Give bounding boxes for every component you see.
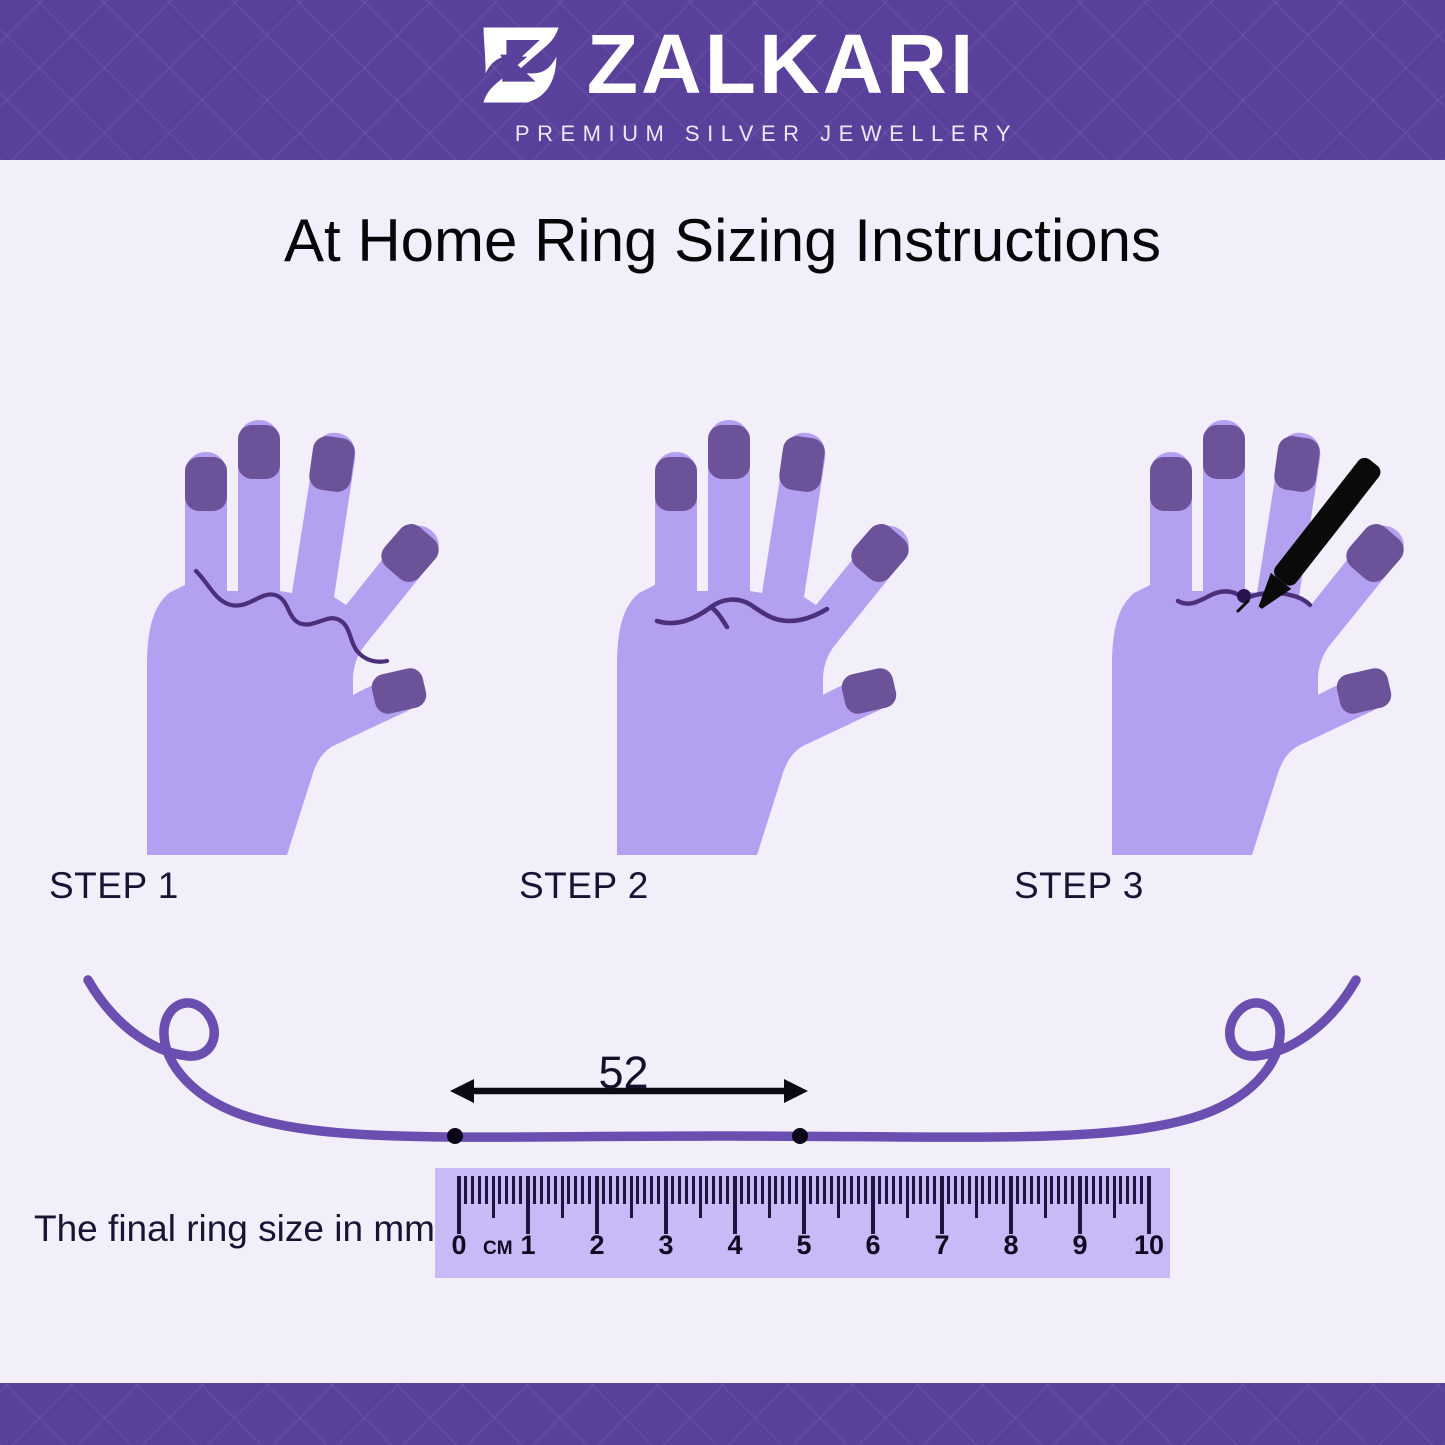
ruler-tick-minor: [926, 1176, 929, 1204]
ruler-tick-minor: [1030, 1176, 1033, 1204]
step-2: STEP 2: [505, 415, 935, 925]
ruler-tick-minor: [837, 1176, 840, 1218]
ruler-number-8: 8: [1003, 1230, 1018, 1261]
ruler-tick-minor: [1099, 1176, 1102, 1204]
ruler-tick-minor: [906, 1176, 909, 1218]
step-3: STEP 3: [1000, 415, 1430, 925]
ruler-tick-minor: [995, 1176, 998, 1204]
ruler-tick-minor: [1016, 1176, 1019, 1204]
ruler-tick-minor: [1092, 1176, 1095, 1204]
ruler-tick-minor: [512, 1176, 515, 1204]
ruler-tick-minor: [919, 1176, 922, 1204]
step-1: STEP 1: [35, 415, 465, 925]
ruler-tick-minor: [878, 1176, 881, 1204]
measure-end-marker: [792, 1128, 808, 1144]
ruler-tick-minor: [795, 1176, 798, 1204]
ruler-tick-minor: [774, 1176, 777, 1204]
ruler-tick-minor: [1140, 1176, 1143, 1204]
ruler-tick-minor: [1064, 1176, 1067, 1204]
ruler-tick-minor: [892, 1176, 895, 1204]
ruler-tick-minor: [492, 1176, 495, 1218]
steps-row: STEP 1 STEP 2: [0, 415, 1445, 925]
ruler-tick-minor: [685, 1176, 688, 1204]
ruler-tick-minor: [567, 1176, 570, 1204]
ruler-tick-minor: [533, 1176, 536, 1204]
ruler-tick-major: [940, 1176, 944, 1234]
ruler-tick-minor: [761, 1176, 764, 1204]
ruler-tick-minor: [609, 1176, 612, 1204]
ruler-tick-major: [457, 1176, 461, 1234]
ruler-tick-minor: [616, 1176, 619, 1204]
ruler-tick-minor: [857, 1176, 860, 1204]
ruler-tick-minor: [554, 1176, 557, 1204]
ruler-number-2: 2: [589, 1230, 604, 1261]
ruler-tick-minor: [636, 1176, 639, 1204]
ruler-tick-minor: [816, 1176, 819, 1204]
ruler-graphic: 012345678910 CM: [435, 1168, 1170, 1278]
hand-with-loose-thread-icon: [35, 415, 465, 855]
ruler-tick-major: [871, 1176, 875, 1234]
ruler-tick-minor: [975, 1176, 978, 1218]
ruler-tick-minor: [485, 1176, 488, 1204]
ruler-tick-minor: [912, 1176, 915, 1204]
ruler-tick-minor: [1113, 1176, 1116, 1218]
ruler-tick-minor: [1050, 1176, 1053, 1204]
ruler-tick-minor: [588, 1176, 591, 1204]
ruler-tick-minor: [650, 1176, 653, 1204]
ruler-tick-minor: [678, 1176, 681, 1204]
ruler-tick-minor: [988, 1176, 991, 1204]
ruler-tick-minor: [899, 1176, 902, 1204]
double-headed-arrow-icon: [450, 1079, 808, 1103]
ruler-tick-minor: [712, 1176, 715, 1204]
ruler-tick-minor: [747, 1176, 750, 1204]
ruler-tick-minor: [823, 1176, 826, 1204]
logo-main-row: ZALKARI: [469, 13, 977, 117]
ruler-tick-major: [1078, 1176, 1082, 1234]
thread-measure-section: [0, 960, 1445, 1160]
ruler-tick-minor: [705, 1176, 708, 1204]
ruler-tick-minor: [540, 1176, 543, 1204]
ruler-number-5: 5: [796, 1230, 811, 1261]
ruler-tick-minor: [581, 1176, 584, 1204]
ruler-tick-major: [802, 1176, 806, 1234]
ruler-tick-minor: [1023, 1176, 1026, 1204]
ruler-tick-minor: [478, 1176, 481, 1204]
ruler-tick-minor: [1002, 1176, 1005, 1204]
ruler-tick-major: [733, 1176, 737, 1234]
ruler-tick-minor: [1044, 1176, 1047, 1218]
ruler-tick-minor: [1119, 1176, 1122, 1204]
ruler-number-1: 1: [520, 1230, 535, 1261]
ruler-tick-minor: [1037, 1176, 1040, 1204]
ruler-tick-minor: [981, 1176, 984, 1204]
ruler-tick-minor: [464, 1176, 467, 1204]
ruler-tick-minor: [657, 1176, 660, 1204]
ruler-tick-major: [1147, 1176, 1151, 1234]
ruler-tick-minor: [843, 1176, 846, 1204]
ruler-tick-minor: [630, 1176, 633, 1218]
ruler-tick-minor: [692, 1176, 695, 1204]
ruler-tick-minor: [830, 1176, 833, 1204]
hand-with-thread-wrapped-icon: [505, 415, 935, 855]
ruler-tick-minor: [781, 1176, 784, 1204]
ruler-tick-minor: [1057, 1176, 1060, 1204]
ruler-tick-minor: [961, 1176, 964, 1204]
ruler-tick-minor: [788, 1176, 791, 1204]
ruler-tick-minor: [1085, 1176, 1088, 1204]
ruler-tick-minor: [561, 1176, 564, 1218]
ruler-tick-minor: [505, 1176, 508, 1204]
ruler-tick-minor: [933, 1176, 936, 1204]
ruler-tick-minor: [954, 1176, 957, 1204]
ruler-tick-major: [595, 1176, 599, 1234]
header-brand-bar: ZALKARI PREMIUM SILVER JEWELLERY: [0, 0, 1445, 160]
ruler-unit-label: CM: [483, 1238, 513, 1260]
step-1-label: STEP 1: [49, 865, 179, 907]
ruler-tick-minor: [547, 1176, 550, 1204]
ruler-number-0: 0: [451, 1230, 466, 1261]
ruler-tick-minor: [768, 1176, 771, 1218]
ruler-tick-minor: [602, 1176, 605, 1204]
ruler-tick-major: [526, 1176, 530, 1234]
ruler-tick-minor: [699, 1176, 702, 1218]
ruler-tick-minor: [754, 1176, 757, 1204]
page-title: At Home Ring Sizing Instructions: [0, 206, 1445, 275]
curled-thread-icon: [0, 960, 1445, 1160]
ruler-tick-minor: [671, 1176, 674, 1204]
ruler-tick-minor: [498, 1176, 501, 1204]
ruler-tick-minor: [643, 1176, 646, 1204]
measure-start-marker: [447, 1128, 463, 1144]
step-2-label: STEP 2: [519, 865, 649, 907]
ruler-tick-minor: [1133, 1176, 1136, 1204]
ruler-number-3: 3: [658, 1230, 673, 1261]
brand-tagline: PREMIUM SILVER JEWELLERY: [515, 121, 1018, 147]
ruler-tick-minor: [947, 1176, 950, 1204]
ruler-number-6: 6: [865, 1230, 880, 1261]
ruler-tick-minor: [740, 1176, 743, 1204]
brand-name: ZALKARI: [587, 26, 977, 103]
ruler-tick-minor: [809, 1176, 812, 1204]
footer-brand-bar: [0, 1383, 1445, 1445]
ruler-tick-minor: [471, 1176, 474, 1204]
ruler-tick-minor: [850, 1176, 853, 1204]
ruler-number-7: 7: [934, 1230, 949, 1261]
ruler-tick-minor: [968, 1176, 971, 1204]
ruler-tick-minor: [519, 1176, 522, 1204]
ruler-tick-minor: [574, 1176, 577, 1204]
ruler-number-9: 9: [1072, 1230, 1087, 1261]
z-monogram-icon: [469, 13, 573, 117]
ruler-tick-minor: [885, 1176, 888, 1204]
logo-lockup: ZALKARI PREMIUM SILVER JEWELLERY: [0, 0, 1445, 160]
ruler-tick-minor: [726, 1176, 729, 1204]
ruler-caption: The final ring size in mm: [34, 1208, 435, 1250]
ruler-tick-minor: [1106, 1176, 1109, 1204]
ruler-number-4: 4: [727, 1230, 742, 1261]
ruler-number-10: 10: [1134, 1230, 1164, 1261]
ruler-tick-minor: [864, 1176, 867, 1204]
ruler-tick-minor: [623, 1176, 626, 1204]
ruler-tick-major: [1009, 1176, 1013, 1234]
ruler-tick-minor: [719, 1176, 722, 1204]
ruler-tick-minor: [1071, 1176, 1074, 1204]
ruler-tick-minor: [1126, 1176, 1129, 1204]
ruler-ticks: 012345678910: [435, 1168, 1170, 1278]
ruler-tick-major: [664, 1176, 668, 1234]
step-3-label: STEP 3: [1014, 865, 1144, 907]
hand-with-pen-marking-thread-icon: [1000, 415, 1430, 855]
